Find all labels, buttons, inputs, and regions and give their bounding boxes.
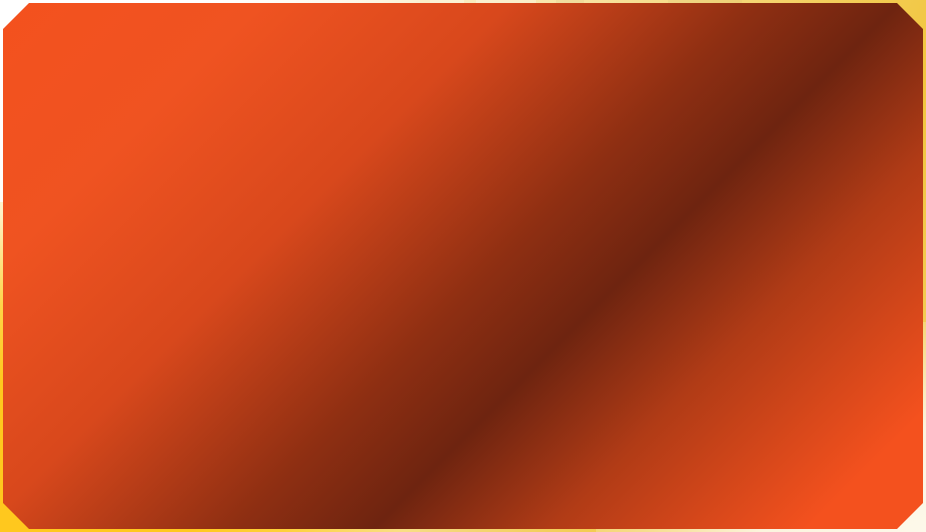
poster-frame-mask <box>5 5 921 527</box>
poster-frame-gradient <box>3 3 923 529</box>
poster-canvas: 中国建材 <box>0 0 926 532</box>
